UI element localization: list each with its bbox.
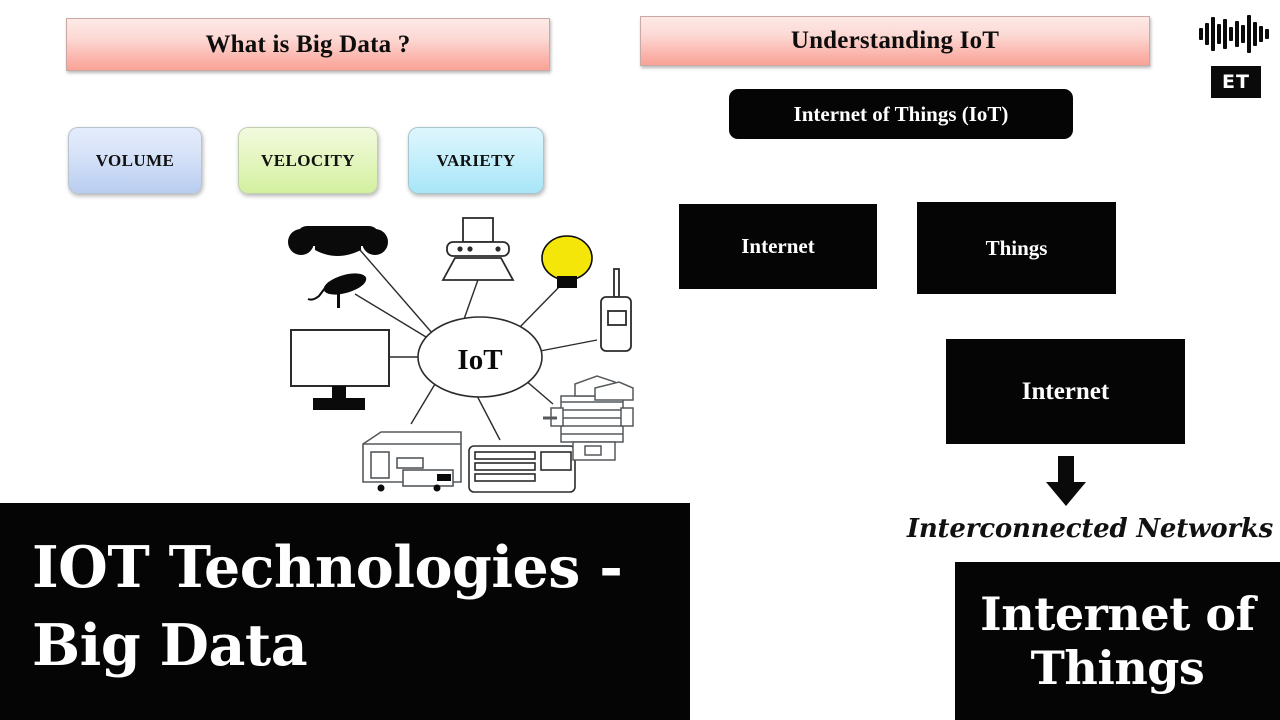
light-bulb-icon — [542, 236, 592, 288]
slide-title-line1: IOT Technologies - — [32, 529, 690, 607]
iot-title-box: Internet of Things — [955, 562, 1280, 720]
internet-definition-box[interactable]: Internet — [946, 339, 1185, 444]
card-device-icon — [469, 446, 575, 492]
things-split-box[interactable]: Things — [917, 202, 1116, 294]
iot-title-line1: Internet of — [980, 587, 1255, 641]
understanding-iot-header: Understanding IoT — [640, 16, 1150, 66]
microphone-icon — [308, 269, 369, 308]
slide-title-line2: Big Data — [32, 607, 690, 685]
et-logo: ET — [1198, 8, 1270, 96]
gamepad-icon — [288, 226, 388, 256]
projector-icon — [443, 218, 513, 280]
v-box-volume[interactable]: VOLUME — [68, 127, 202, 194]
monitor-icon — [291, 330, 389, 410]
internet-of-things-box[interactable]: Internet of Things (IoT) — [729, 89, 1073, 139]
et-badge: ET — [1211, 66, 1261, 98]
iot-hub-label: IoT — [457, 344, 502, 376]
internet-split-box[interactable]: Internet — [679, 204, 877, 289]
v-box-velocity[interactable]: VELOCITY — [238, 127, 378, 194]
interconnected-networks-label: Interconnected Networks — [900, 514, 1280, 544]
down-arrow-icon — [1044, 456, 1088, 508]
v-box-variety[interactable]: VARIETY — [408, 127, 544, 194]
truck-icon — [363, 432, 461, 492]
iot-title-line2: Things — [980, 641, 1255, 695]
slide-canvas: ET What is Big Data ? VOLUME VELOCITY VA… — [0, 0, 1280, 720]
slide-title-banner: IOT Technologies - Big Data — [0, 503, 690, 720]
iot-hub-diagram: IoT — [285, 212, 645, 500]
walkie-talkie-icon — [601, 269, 631, 351]
what-is-big-data-header: What is Big Data ? — [66, 18, 550, 71]
audio-waveform-icon — [1198, 8, 1270, 60]
